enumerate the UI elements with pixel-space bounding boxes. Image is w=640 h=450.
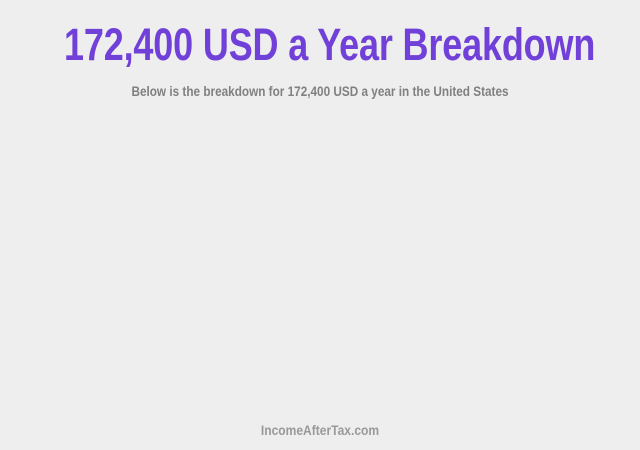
page-subtitle: Below is the breakdown for 172,400 USD a… <box>51 82 589 100</box>
page-title: 172,400 USD a Year Breakdown <box>64 19 576 71</box>
site-watermark: IncomeAfterTax.com <box>45 421 595 439</box>
breakdown-page: 172,400 USD a Year Breakdown Below is th… <box>0 0 640 450</box>
content-area <box>0 118 640 410</box>
